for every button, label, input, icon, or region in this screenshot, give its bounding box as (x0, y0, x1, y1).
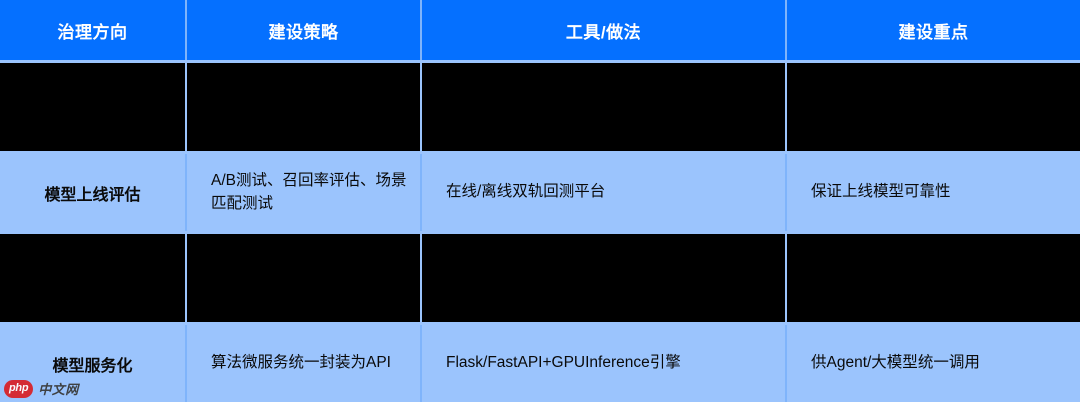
governance-table: 治理方向 建设策略 工具/做法 建设重点 模型上线评估 A/B测试、召回率评估、… (0, 0, 1080, 402)
governance-table-container: 治理方向 建设策略 工具/做法 建设重点 模型上线评估 A/B测试、召回率评估、… (0, 0, 1080, 401)
cell-strategy (186, 233, 421, 324)
table-row (0, 62, 1080, 153)
cell-tools: 在线/离线双轨回测平台 (421, 153, 786, 233)
cell-strategy: A/B测试、召回率评估、场景匹配测试 (186, 153, 421, 233)
cell-direction: 模型上线评估 (0, 153, 186, 233)
cell-tools (421, 233, 786, 324)
cell-tools (421, 62, 786, 153)
column-header-strategy: 建设策略 (186, 0, 421, 62)
cell-focus: 保证上线模型可靠性 (786, 153, 1080, 233)
cell-strategy: 算法微服务统一封装为API (186, 324, 421, 402)
cell-focus (786, 62, 1080, 153)
cell-focus (786, 233, 1080, 324)
cell-direction: 模型服务化 (0, 324, 186, 402)
cell-direction (0, 62, 186, 153)
table-row: 模型上线评估 A/B测试、召回率评估、场景匹配测试 在线/离线双轨回测平台 保证… (0, 153, 1080, 233)
table-header: 治理方向 建设策略 工具/做法 建设重点 (0, 0, 1080, 62)
table-row: 模型服务化 算法微服务统一封装为API Flask/FastAPI+GPUInf… (0, 324, 1080, 402)
cell-strategy (186, 62, 421, 153)
header-row: 治理方向 建设策略 工具/做法 建设重点 (0, 0, 1080, 62)
column-header-direction: 治理方向 (0, 0, 186, 62)
table-row (0, 233, 1080, 324)
cell-direction (0, 233, 186, 324)
cell-tools: Flask/FastAPI+GPUInference引擎 (421, 324, 786, 402)
column-header-focus: 建设重点 (786, 0, 1080, 62)
column-header-tools: 工具/做法 (421, 0, 786, 62)
cell-focus: 供Agent/大模型统一调用 (786, 324, 1080, 402)
table-body: 模型上线评估 A/B测试、召回率评估、场景匹配测试 在线/离线双轨回测平台 保证… (0, 62, 1080, 402)
